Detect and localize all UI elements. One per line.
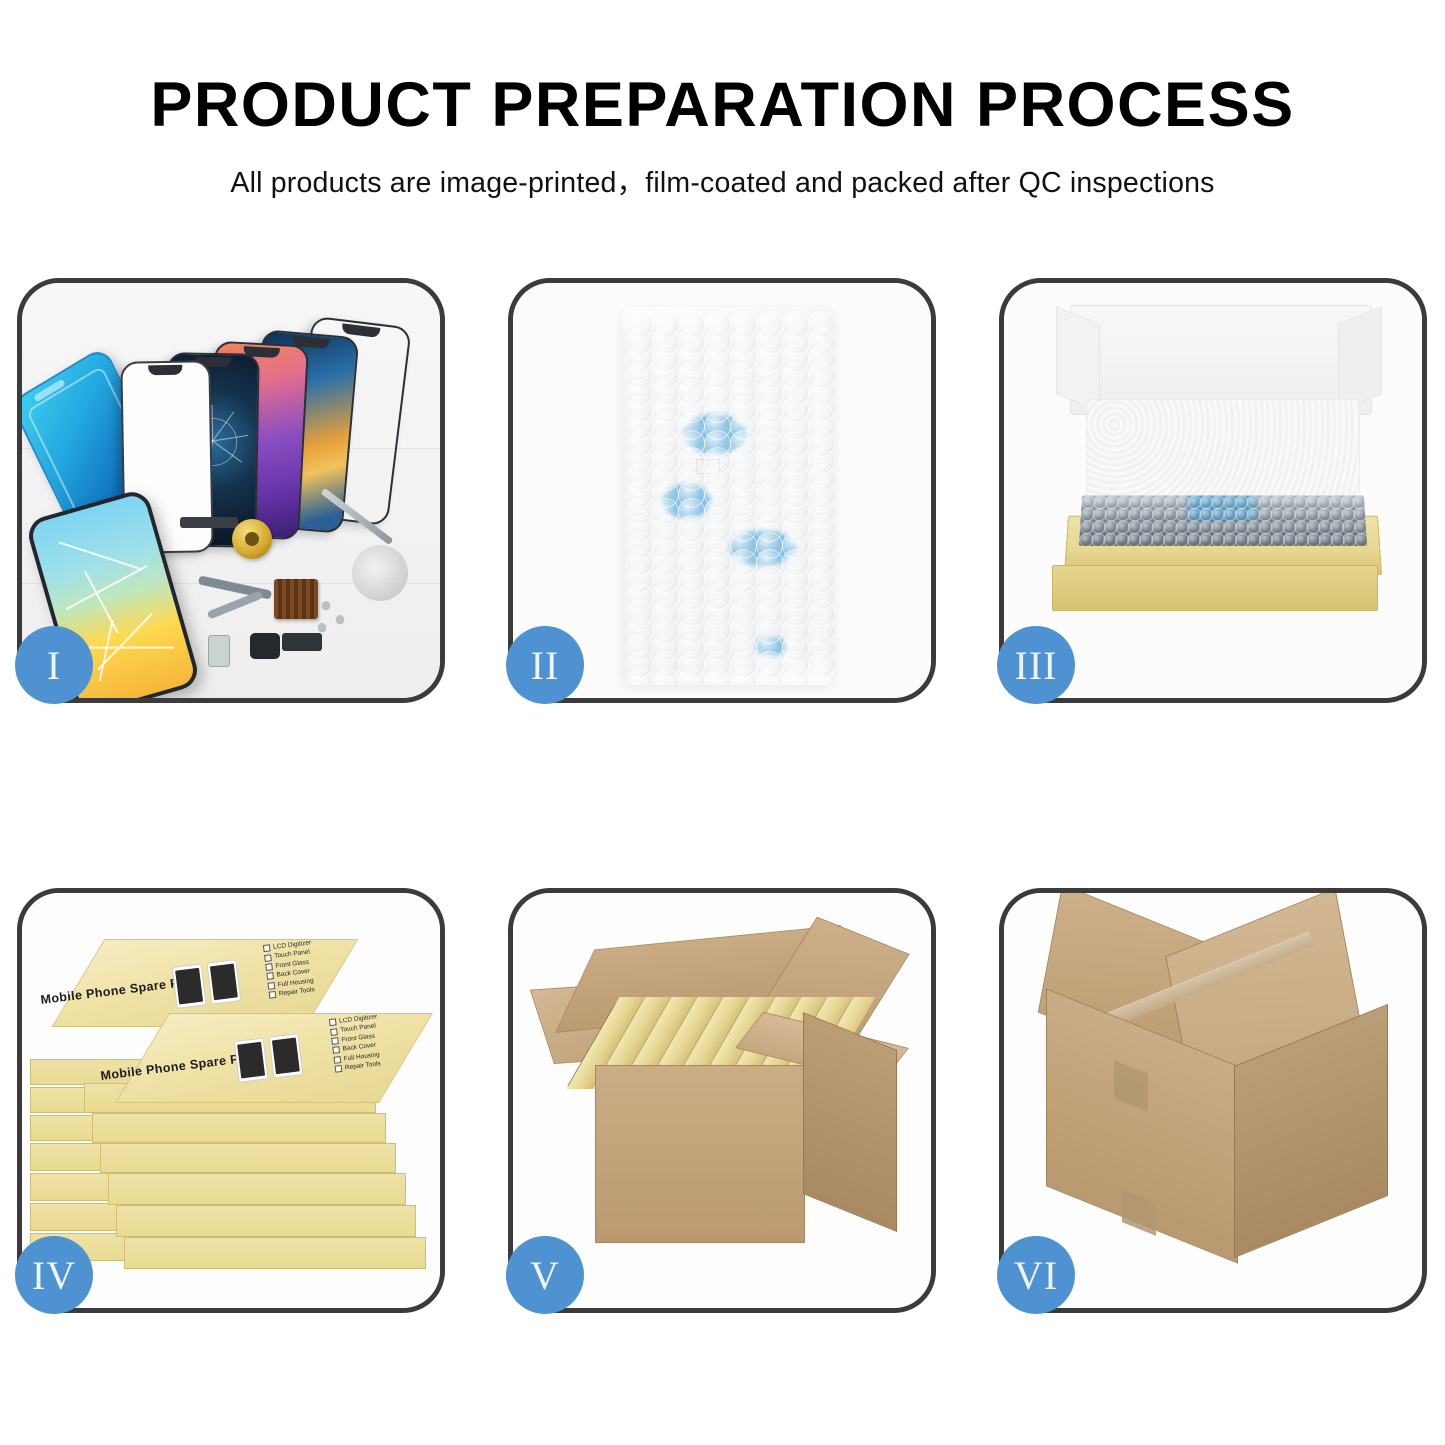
checkbox-icon: [267, 982, 275, 990]
bubble: [1354, 533, 1367, 546]
process-step-card-5: V: [508, 888, 936, 1313]
checkbox-icon: [266, 973, 274, 981]
step-badge-3: III: [997, 626, 1075, 704]
checkbox-icon: [264, 954, 272, 962]
step-1-image: [22, 283, 440, 698]
retail-box-checklist-1: LCD DigitizerTouch PanelFront GlassBack …: [263, 938, 318, 1000]
phone-fan-group: [114, 321, 440, 536]
step-badge-6: VI: [997, 1236, 1075, 1314]
screw-icon-2: [336, 615, 344, 623]
box-lid-left-flap: [1056, 306, 1100, 412]
checkbox-icon: [263, 944, 271, 952]
bubble-wrap-package: [622, 307, 834, 685]
infographic-page: PRODUCT PREPARATION PROCESS All products…: [0, 0, 1445, 1445]
checkbox-icon: [329, 1018, 337, 1026]
carton-side-face: [803, 1012, 897, 1232]
bubble: [1354, 521, 1367, 535]
gold-coil-icon: [232, 519, 272, 559]
kraft-tray-front: [1052, 565, 1378, 611]
header: PRODUCT PREPARATION PROCESS All products…: [0, 0, 1445, 201]
page-title: PRODUCT PREPARATION PROCESS: [0, 0, 1445, 138]
page-subtitle: All products are image-printed，film-coat…: [0, 138, 1445, 201]
process-step-card-3: III: [999, 278, 1427, 703]
checkbox-icon: [265, 963, 273, 971]
process-step-card-6: VI: [999, 888, 1427, 1313]
screw-icon-3: [318, 623, 326, 631]
process-step-card-1: I: [17, 278, 445, 703]
flex-cable-icon-2: [207, 590, 264, 619]
ic-chip-icon: [274, 579, 318, 619]
step-3-image: [1004, 283, 1422, 698]
process-step-card-2: II: [508, 278, 936, 703]
step-4-image: Mobile Phone Spare Parts LCD DigitizerTo…: [22, 893, 440, 1308]
step-5-image: [513, 893, 931, 1308]
step-6-image: [1004, 893, 1422, 1308]
bubble-texture: [622, 307, 834, 685]
bubble: [808, 668, 834, 685]
vibrator-module-icon: [282, 633, 322, 651]
step-badge-5: V: [506, 1236, 584, 1314]
bubble: [1353, 508, 1367, 521]
retail-box-checklist-2: LCD DigitizerTouch PanelFront GlassBack …: [329, 1012, 384, 1074]
process-step-grid: I II: [17, 278, 1428, 1320]
checkbox-icon: [332, 1047, 340, 1055]
carton-front-face: [595, 1065, 805, 1243]
step-badge-1: I: [15, 626, 93, 704]
checkbox-icon: [269, 991, 277, 999]
checkbox-icon: [335, 1065, 343, 1073]
step-badge-4: IV: [15, 1236, 93, 1314]
sim-tray-icon: [208, 635, 230, 667]
box-lid-right-flap: [1338, 306, 1382, 412]
sealed-shipping-carton: [1026, 911, 1402, 1277]
bubble: [1352, 496, 1367, 509]
brush-icon: [352, 545, 408, 601]
step-badge-2: II: [506, 626, 584, 704]
wrapped-screens-row: [1079, 496, 1367, 546]
white-inner-box: [1034, 303, 1404, 603]
retail-box-stack: Mobile Phone Spare Parts LCD DigitizerTo…: [22, 901, 440, 1301]
camera-module-icon: [250, 633, 280, 659]
checkbox-icon: [333, 1056, 341, 1064]
step-2-image: [513, 283, 931, 698]
process-step-card-4: Mobile Phone Spare Parts LCD DigitizerTo…: [17, 888, 445, 1313]
speaker-module-icon: [180, 517, 238, 528]
retail-box-screens-2: [234, 1033, 304, 1083]
screw-icon-1: [322, 601, 330, 609]
checkbox-icon: [330, 1028, 338, 1036]
checkbox-icon: [331, 1037, 339, 1045]
open-shipping-carton: [549, 919, 897, 1265]
retail-box-screens-1: [172, 959, 242, 1009]
